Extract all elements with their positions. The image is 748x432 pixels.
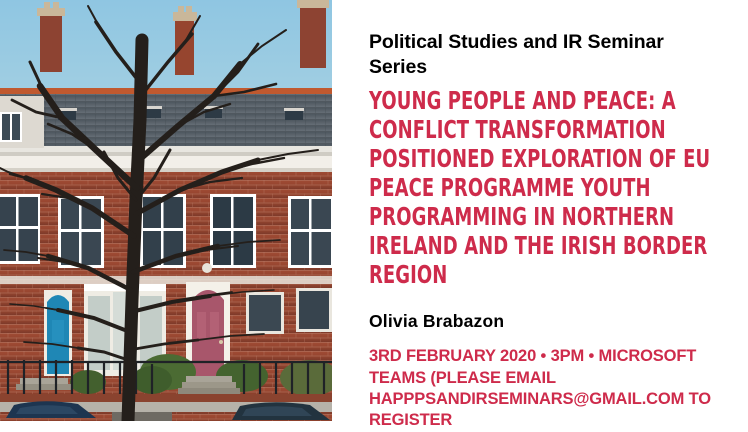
talk-title: Young People and Peace: A Conflict Trans…	[369, 86, 726, 289]
string-course	[0, 276, 332, 284]
building-photo	[0, 0, 332, 421]
series-title: Political Studies and IR Seminar Series	[369, 30, 726, 79]
photo-illustration	[0, 0, 332, 421]
speaker-name: Olivia Brabazon	[369, 311, 726, 332]
event-details: 3rd February 2020 • 3pm • Microsoft Team…	[369, 346, 726, 432]
poster-text-column: Political Studies and IR Seminar Series …	[332, 0, 748, 421]
seminar-poster: Political Studies and IR Seminar Series …	[0, 0, 748, 421]
